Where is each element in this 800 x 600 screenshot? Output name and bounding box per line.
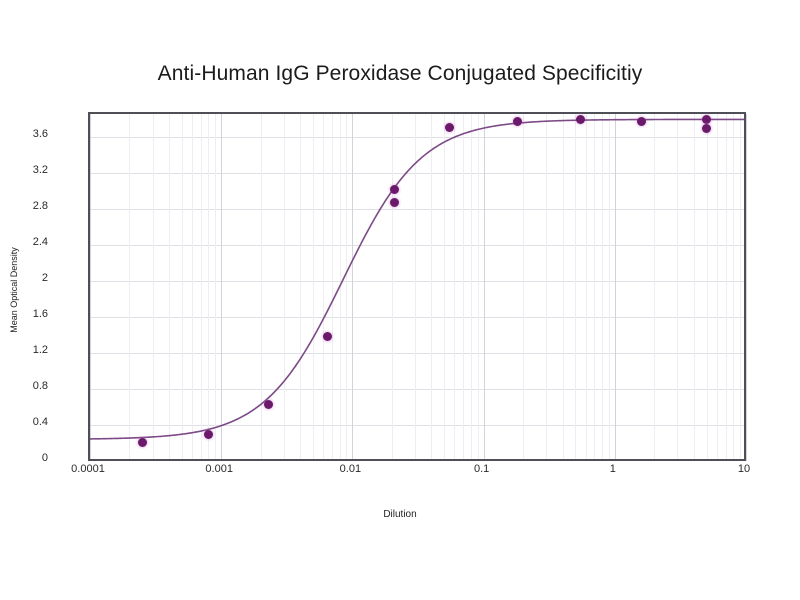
data-point (323, 332, 332, 341)
y-tick-label: 0.4 (0, 416, 48, 428)
x-tick-label: 10 (738, 463, 750, 475)
data-point (138, 438, 147, 447)
data-point (204, 430, 213, 439)
x-tick-label: 0.0001 (71, 463, 105, 475)
plot-area (88, 112, 746, 461)
data-point (637, 117, 646, 126)
y-tick-label: 2.8 (0, 200, 48, 212)
y-tick-label: 1.2 (0, 344, 48, 356)
data-point (264, 400, 273, 409)
x-tick-label: 0.01 (340, 463, 361, 475)
plot-border-bottom (88, 459, 746, 461)
x-tick-label: 1 (610, 463, 616, 475)
gridline-vertical-major (746, 114, 747, 461)
y-tick-label: 1.6 (0, 308, 48, 320)
data-point (513, 117, 522, 126)
x-axis-title: Dilution (0, 509, 800, 520)
data-point (445, 123, 454, 132)
fit-curve (90, 114, 746, 461)
chart-container: Anti-Human IgG Peroxidase Conjugated Spe… (0, 0, 800, 600)
y-tick-label: 3.2 (0, 164, 48, 176)
y-tick-label: 3.6 (0, 128, 48, 140)
x-tick-label: 0.1 (474, 463, 489, 475)
y-tick-label: 2 (0, 272, 48, 284)
y-tick-label: 2.4 (0, 236, 48, 248)
data-point (390, 198, 399, 207)
chart-title: Anti-Human IgG Peroxidase Conjugated Spe… (0, 62, 800, 86)
x-tick-label: 0.001 (205, 463, 233, 475)
y-tick-label: 0 (0, 452, 48, 464)
data-point (702, 124, 711, 133)
plot-border-right (744, 112, 746, 461)
y-tick-label: 0.8 (0, 380, 48, 392)
data-point (702, 115, 711, 124)
